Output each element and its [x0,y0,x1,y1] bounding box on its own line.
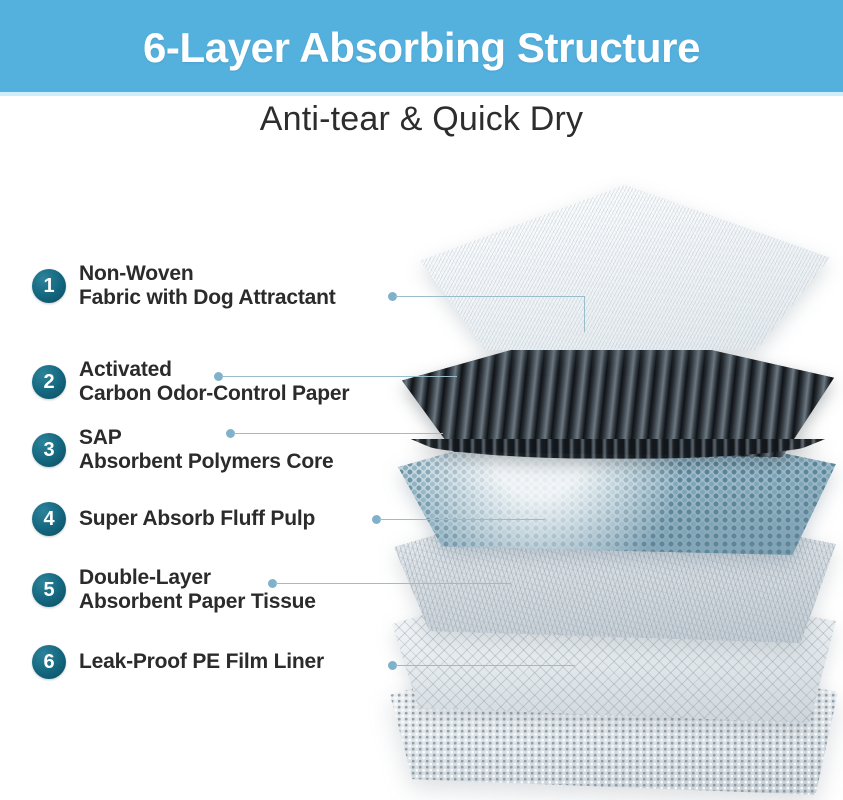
layer-label-4: Super Absorb Fluff Pulp [79,507,315,531]
exploded-layer-illustration [390,175,843,765]
non-woven-weave-texture [420,185,830,350]
layer-number-badge-6: 6 [32,645,66,679]
leader-dot-4 [372,515,381,524]
layer-graphic-non-woven-fabric [420,185,830,350]
layer-number-badge-5: 5 [32,573,66,607]
layer-number-badge-1: 1 [32,269,66,303]
page-title: 6-Layer Absorbing Structure [143,24,700,72]
layer-number-badge-2: 2 [32,365,66,399]
layer-label-5: Double-Layer Absorbent Paper Tissue [79,566,316,615]
layer-label-1: Non-Woven Fabric with Dog Attractant [79,262,336,311]
callout-item-4[interactable]: 4 Super Absorb Fluff Pulp [32,502,315,536]
layer-label-6: Leak-Proof PE Film Liner [79,650,324,674]
callout-item-3[interactable]: 3 SAP Absorbent Polymers Core [32,426,333,475]
callout-item-5[interactable]: 5 Double-Layer Absorbent Paper Tissue [32,566,316,615]
infographic-page: 6-Layer Absorbing Structure Anti-tear & … [0,0,843,800]
page-subtitle: Anti-tear & Quick Dry [0,100,843,139]
layer-number-badge-3: 3 [32,433,66,467]
header-banner: 6-Layer Absorbing Structure [0,0,843,96]
layer-number-badge-4: 4 [32,502,66,536]
callout-item-1[interactable]: 1 Non-Woven Fabric with Dog Attractant [32,262,336,311]
callout-item-6[interactable]: 6 Leak-Proof PE Film Liner [32,645,324,679]
layer-label-3: SAP Absorbent Polymers Core [79,426,333,475]
callout-item-2[interactable]: 2 Activated Carbon Odor-Control Paper [32,358,349,407]
layer-label-2: Activated Carbon Odor-Control Paper [79,358,349,407]
